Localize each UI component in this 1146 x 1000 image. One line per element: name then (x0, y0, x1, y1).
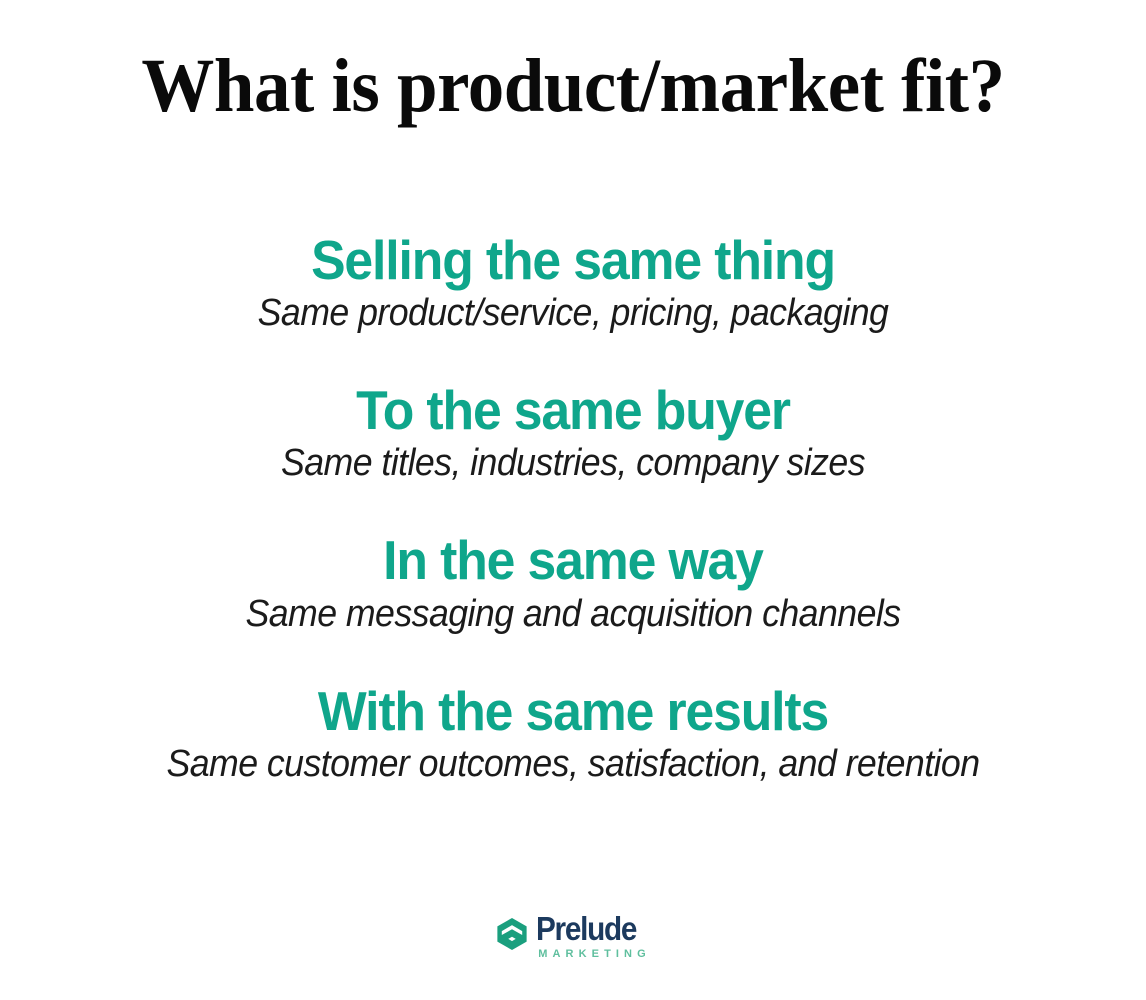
section-subtitle: Same product/service, pricing, packaging (34, 293, 1111, 334)
section-item: Selling the same thing Same product/serv… (0, 232, 1146, 334)
section-heading: Selling the same thing (34, 232, 1111, 289)
logo-tagline: MARKETING (536, 949, 651, 960)
section-subtitle: Same titles, industries, company sizes (34, 443, 1111, 484)
page-title: What is product/market fit? (23, 48, 1123, 124)
section-subtitle: Same customer outcomes, satisfaction, an… (34, 744, 1111, 785)
prelude-hexagon-icon (495, 917, 529, 951)
logo-wordmark: Prelude (536, 912, 639, 945)
prelude-marketing-logo: Prelude MARKETING (0, 912, 1146, 960)
section-heading: In the same way (34, 532, 1111, 589)
section-heading: With the same results (34, 683, 1111, 740)
title-block: What is product/market fit? (0, 48, 1146, 124)
section-list: Selling the same thing Same product/serv… (0, 232, 1146, 785)
slide-canvas: What is product/market fit? Selling the … (0, 0, 1146, 1000)
section-item: With the same results Same customer outc… (0, 683, 1146, 785)
section-item: In the same way Same messaging and acqui… (0, 532, 1146, 634)
section-subtitle: Same messaging and acquisition channels (34, 594, 1111, 635)
logo-text-group: Prelude MARKETING (536, 912, 651, 960)
section-heading: To the same buyer (34, 382, 1111, 439)
section-item: To the same buyer Same titles, industrie… (0, 382, 1146, 484)
